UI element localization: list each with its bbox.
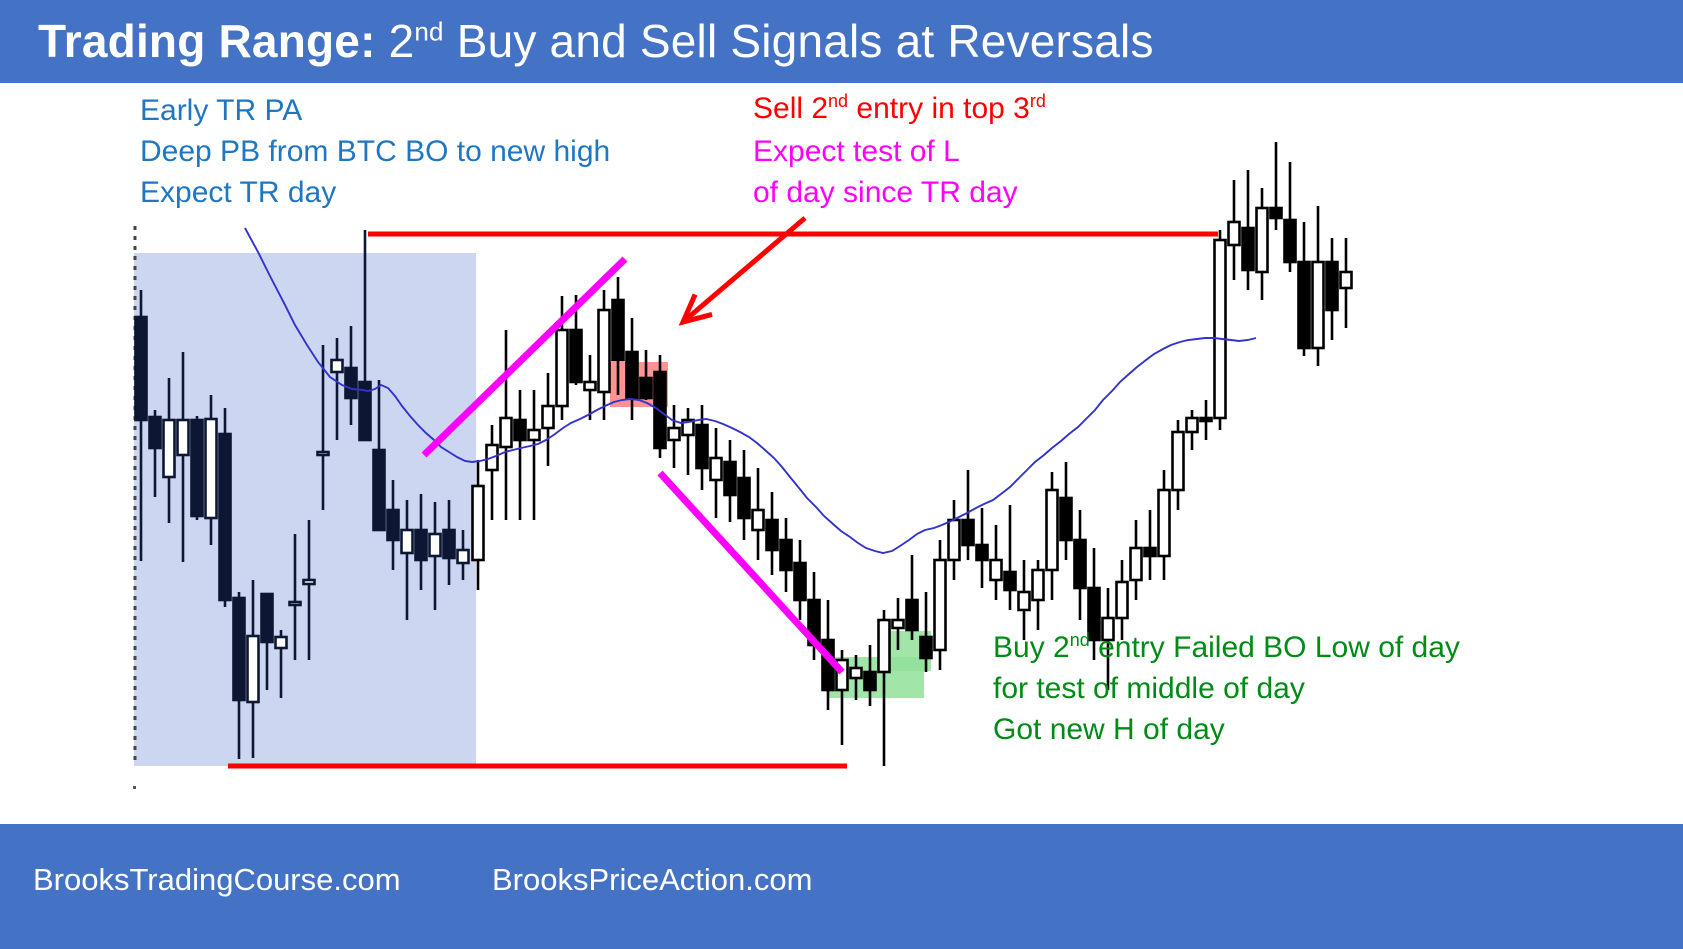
annotation-magenta-line-0: Expect test of L xyxy=(753,131,1018,172)
candle-bar xyxy=(697,405,708,490)
candle-body xyxy=(879,620,890,672)
candle-bar xyxy=(1005,505,1016,610)
footer-link-price-action[interactable]: BrooksPriceAction.com xyxy=(492,862,812,898)
candle-body xyxy=(739,478,750,518)
candle-bar xyxy=(1313,206,1324,366)
candle-bar xyxy=(711,428,722,518)
candle-body xyxy=(1033,570,1044,600)
annotation-blue-line-1: Deep PB from BTC BO to new high xyxy=(140,131,610,172)
candle-body xyxy=(444,530,455,558)
candle-body xyxy=(388,510,399,540)
candle-bar xyxy=(739,450,750,540)
candle-body xyxy=(458,550,469,563)
candle-bar xyxy=(1201,400,1212,440)
candle-body xyxy=(613,300,624,360)
candle-bar xyxy=(991,525,1002,600)
candle-bar xyxy=(1215,230,1226,430)
candle-body xyxy=(991,560,1002,580)
candle-body xyxy=(725,462,736,495)
annotation-green-sup: nd xyxy=(1070,630,1090,650)
corner-dot xyxy=(133,786,136,789)
range-shade-group xyxy=(134,226,476,766)
candle-body xyxy=(1215,240,1226,418)
candle-body xyxy=(1145,548,1156,556)
candle-body xyxy=(1299,262,1310,348)
candle-bar xyxy=(1341,238,1352,328)
candle-body xyxy=(1075,540,1086,588)
candle-bar xyxy=(753,468,764,560)
candle-body xyxy=(641,378,652,398)
candle-body xyxy=(697,425,708,468)
candle-bar xyxy=(1145,510,1156,580)
candle-bar xyxy=(1047,472,1058,600)
candle-body xyxy=(234,598,245,700)
annotation-red-sup-a: nd xyxy=(828,91,848,111)
candle-bar xyxy=(1243,170,1254,290)
candle-bar xyxy=(1159,470,1170,580)
candle-body xyxy=(949,520,960,560)
candle-body xyxy=(1285,220,1296,262)
annotation-expect-test: Expect test of L of day since TR day xyxy=(753,131,1018,213)
candle-body xyxy=(1187,418,1198,432)
candle-bar xyxy=(725,440,736,522)
candle-body xyxy=(1061,498,1072,540)
trading-range-shade xyxy=(134,253,476,766)
candle-bar xyxy=(977,508,988,588)
annotation-blue-line-0: Early TR PA xyxy=(140,90,610,131)
annotation-green-b: entry Failed BO Low of day xyxy=(1090,631,1460,664)
candle-body xyxy=(669,428,680,440)
candle-body xyxy=(1117,582,1128,618)
annotation-green-line-2: Got new H of day xyxy=(993,709,1460,750)
candle-bar xyxy=(1187,410,1198,450)
candle-bar xyxy=(585,355,596,420)
candle-bar xyxy=(192,416,203,520)
candle-bar xyxy=(1257,188,1268,300)
candle-body xyxy=(276,637,287,648)
candle-body xyxy=(571,330,582,382)
candle-body xyxy=(907,600,918,630)
candle-body xyxy=(795,563,806,600)
candle-body xyxy=(1271,208,1282,218)
candle-bar xyxy=(1033,560,1044,630)
candle-bar xyxy=(795,540,806,620)
candle-body xyxy=(963,520,974,545)
candle-body xyxy=(178,420,189,455)
candle-body xyxy=(290,602,301,605)
candle-body xyxy=(1327,262,1338,310)
candle-body xyxy=(935,560,946,650)
candle-bar xyxy=(1229,180,1240,280)
candle-bar xyxy=(1075,510,1086,620)
candle-body xyxy=(374,450,385,530)
candle-bar xyxy=(935,540,946,670)
candle-body xyxy=(1243,228,1254,270)
candle-bar xyxy=(1285,162,1296,272)
candle-bar xyxy=(683,408,694,475)
annotation-sell-entry: Sell 2nd entry in top 3rd xyxy=(753,88,1046,129)
candle-body xyxy=(136,317,147,420)
candle-body xyxy=(1257,208,1268,272)
candle-body xyxy=(557,330,568,406)
annotation-green-line-1: for test of middle of day xyxy=(993,668,1460,709)
candle-bar xyxy=(599,290,610,420)
candle-body xyxy=(150,417,161,448)
candle-body xyxy=(865,672,876,690)
slide-root: Trading Range: 2nd Buy and Sell Signals … xyxy=(0,0,1683,949)
candle-bar xyxy=(515,390,526,520)
candle-body xyxy=(1341,272,1352,288)
candle-body xyxy=(1131,548,1142,580)
candle-bar xyxy=(781,518,792,592)
candle-bar xyxy=(1299,222,1310,356)
footer-banner: BrooksTradingCourse.com BrooksPriceActio… xyxy=(0,824,1683,949)
candle-body xyxy=(206,419,217,518)
candle-bar xyxy=(543,373,554,466)
candle-body xyxy=(781,540,792,570)
candle-body xyxy=(416,530,427,560)
candle-body xyxy=(346,368,357,398)
candle-bar xyxy=(1131,520,1142,600)
annotation-green-a: Buy 2 xyxy=(993,631,1070,664)
candle-bar xyxy=(501,330,512,520)
candle-body xyxy=(515,420,526,440)
candle-body xyxy=(1229,222,1240,245)
candle-body xyxy=(262,594,273,642)
candle-body xyxy=(248,636,259,702)
candle-body xyxy=(1005,572,1016,590)
annotation-red-sup-b: rd xyxy=(1030,91,1046,111)
candle-body xyxy=(501,418,512,447)
candle-body xyxy=(332,360,343,372)
candle-bar xyxy=(767,492,778,575)
candle-body xyxy=(767,520,778,550)
candle-body xyxy=(1313,262,1324,348)
candle-body xyxy=(430,534,441,556)
annotation-early-tr: Early TR PA Deep PB from BTC BO to new h… xyxy=(140,90,610,213)
candle-bar xyxy=(529,390,540,520)
candle-body xyxy=(192,420,203,516)
candle-body xyxy=(164,420,175,477)
annotation-buy-entry: Buy 2nd entry Failed BO Low of day for t… xyxy=(993,627,1460,750)
candle-body xyxy=(220,434,231,600)
candle-body xyxy=(304,580,315,584)
candle-bar xyxy=(949,500,960,580)
candle-body xyxy=(318,452,329,455)
candle-bar xyxy=(1271,142,1282,230)
candle-bar xyxy=(1327,238,1338,340)
candle-bar xyxy=(1061,462,1072,560)
annotation-blue-line-2: Expect TR day xyxy=(140,172,610,213)
candle-bar xyxy=(220,408,231,607)
candle-bar xyxy=(669,405,680,468)
candle-body xyxy=(529,430,540,440)
candle-bar xyxy=(487,425,498,520)
candle-body xyxy=(402,530,413,553)
candle-body xyxy=(1201,418,1212,421)
candle-body xyxy=(753,510,764,530)
footer-link-trading-course[interactable]: BrooksTradingCourse.com xyxy=(33,862,401,898)
annotation-red-a: Sell 2 xyxy=(753,92,828,125)
candle-body xyxy=(893,620,904,628)
annotation-green-line-0: Buy 2nd entry Failed BO Low of day xyxy=(993,627,1460,668)
candle-body xyxy=(1019,592,1030,610)
candle-body xyxy=(921,637,932,658)
candle-body xyxy=(585,382,596,390)
candle-body xyxy=(599,310,610,392)
annotation-magenta-line-1: of day since TR day xyxy=(753,172,1018,213)
candle-bar xyxy=(907,555,918,640)
candle-body xyxy=(711,458,722,480)
candle-body xyxy=(1173,432,1184,490)
candle-body xyxy=(627,352,638,398)
candle-body xyxy=(851,668,862,678)
candle-body xyxy=(473,486,484,560)
candle-bar xyxy=(1173,420,1184,510)
candle-body xyxy=(543,406,554,428)
candle-body xyxy=(1047,490,1058,570)
candle-body xyxy=(977,545,988,560)
annotation-red-b: entry in top 3 xyxy=(848,92,1030,125)
candle-body xyxy=(1159,490,1170,556)
